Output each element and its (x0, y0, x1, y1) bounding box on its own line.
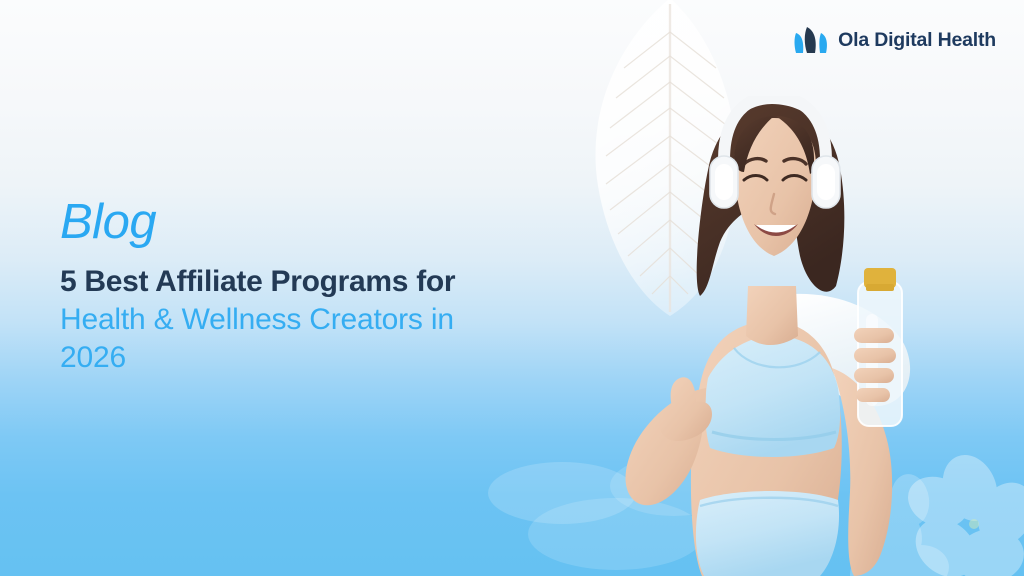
ola-digital-health-petal-mark (793, 24, 829, 56)
skeleton-leaf-icon (566, 0, 766, 324)
plumeria-flower-icon (850, 436, 1024, 576)
spa-pebbles-decoration (470, 426, 770, 576)
headphone-earcup (812, 156, 840, 208)
headline-block: Blog 5 Best Affiliate Programs for Healt… (60, 198, 530, 376)
headphone-earcup (710, 156, 738, 208)
headline-line-2: Health & Wellness Creators in (60, 301, 530, 339)
blog-banner: Ola Digital Health Blog 5 Best Affiliate… (0, 0, 1024, 576)
headline-line-3: 2026 (60, 339, 530, 377)
hero-photo-woman (548, 96, 968, 576)
brand-logo[interactable]: Ola Digital Health (793, 24, 996, 56)
pebble-shape (488, 462, 636, 524)
kicker-blog: Blog (60, 198, 530, 247)
pebble-shape (610, 456, 738, 516)
logo-wordmark: Ola Digital Health (838, 29, 996, 52)
headline-line-1: 5 Best Affiliate Programs for (60, 263, 530, 301)
pebble-shape (528, 498, 704, 570)
